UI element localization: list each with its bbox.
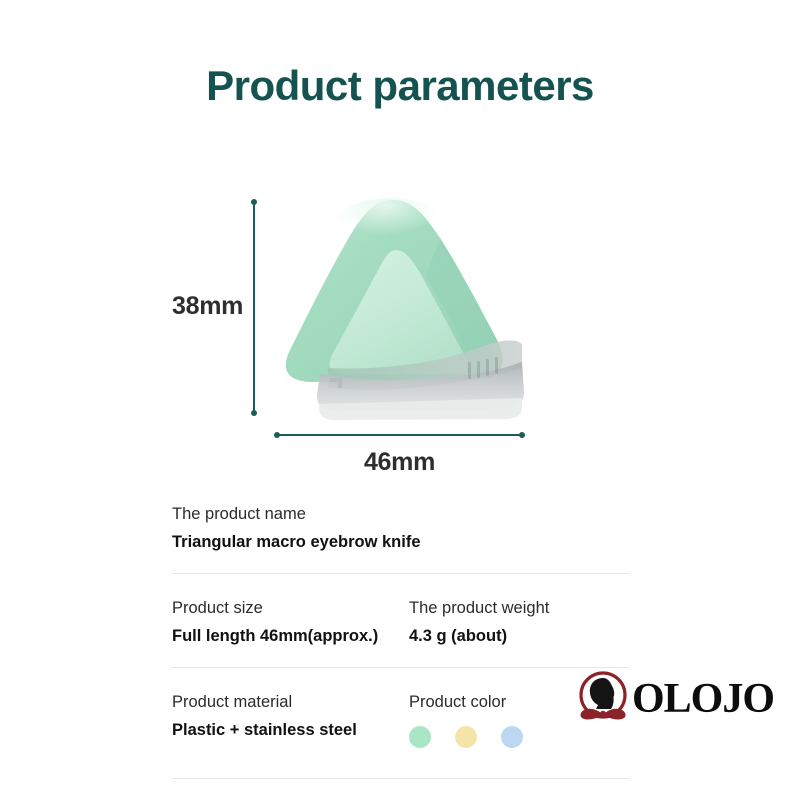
table-row: Product material Plastic + stainless ste… <box>172 668 630 779</box>
width-dimension-label: 46mm <box>277 448 522 477</box>
emblem-ribbon-knot <box>600 711 606 717</box>
spec-value: Plastic + stainless steel <box>172 718 401 744</box>
color-swatch-pale-yellow[interactable] <box>455 726 477 748</box>
product-figure: 38mm 46mm <box>0 180 800 480</box>
spec-table: The product name Triangular macro eyebro… <box>172 498 630 779</box>
spec-label: The product weight <box>409 596 630 622</box>
product-image <box>272 192 534 427</box>
spec-value: Full length 46mm(approx.) <box>172 624 401 650</box>
brand-wordmark: OLOJO <box>632 678 774 720</box>
color-swatch-light-blue[interactable] <box>501 726 523 748</box>
olojo-emblem-icon <box>572 668 634 730</box>
page-title: Product parameters <box>0 62 800 110</box>
table-row: Product size Full length 46mm(approx.) T… <box>172 574 630 668</box>
width-dimension-line <box>277 434 522 436</box>
spec-cell-product-size: Product size Full length 46mm(approx.) <box>172 596 401 649</box>
spec-value: 4.3 g (about) <box>409 624 630 650</box>
spec-cell-product-weight: The product weight 4.3 g (about) <box>401 596 630 649</box>
height-dimension-label: 38mm <box>172 292 243 321</box>
height-dimension-line <box>253 202 255 413</box>
spec-cell-product-material: Product material Plastic + stainless ste… <box>172 690 401 748</box>
table-row: The product name Triangular macro eyebro… <box>172 498 630 574</box>
spec-label: Product size <box>172 596 401 622</box>
color-swatch-mint-green[interactable] <box>409 726 431 748</box>
eyebrow-knife-illustration <box>272 192 534 427</box>
spec-label: The product name <box>172 502 630 528</box>
brand-logo: OLOJO <box>572 668 762 730</box>
spec-value: Triangular macro eyebrow knife <box>172 530 630 556</box>
spec-cell-product-name: The product name Triangular macro eyebro… <box>172 502 630 555</box>
spec-label: Product material <box>172 690 401 716</box>
shell-highlight <box>332 198 448 258</box>
